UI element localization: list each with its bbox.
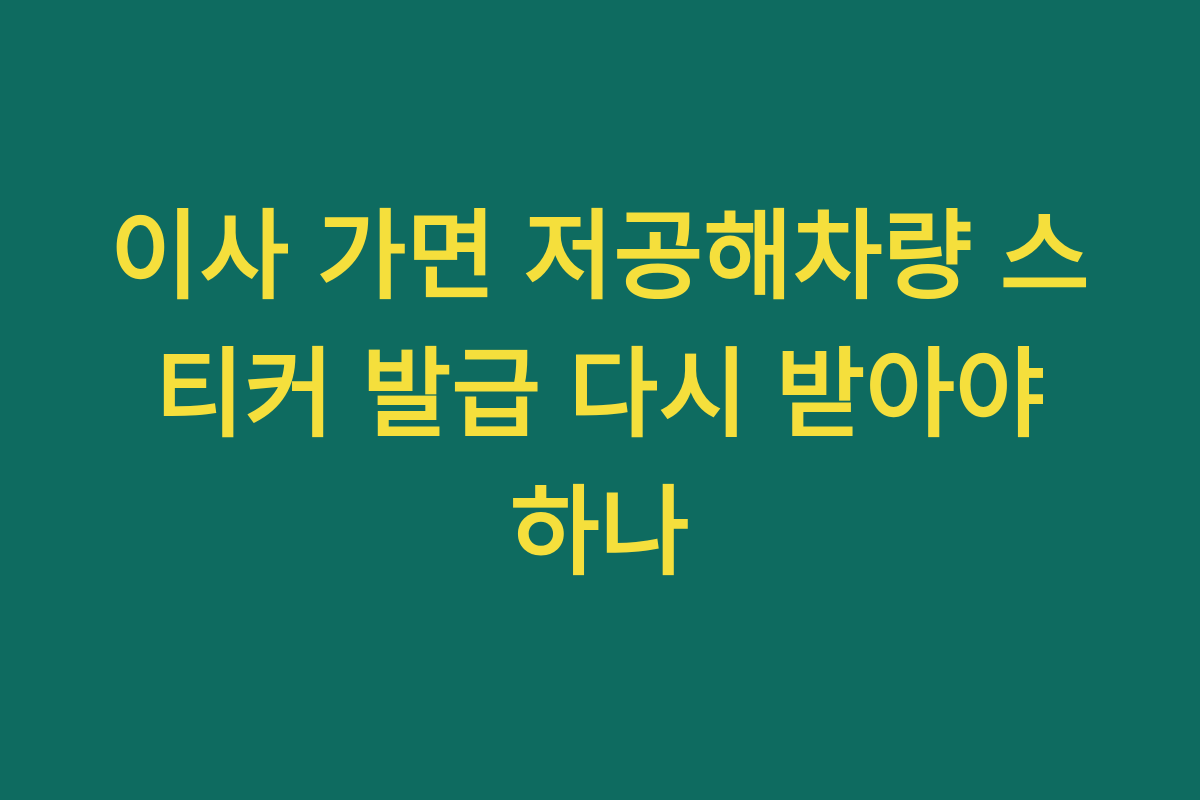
text-banner: 이사 가면 저공해차량 스 티커 발급 다시 받아야 하나 xyxy=(0,0,1200,800)
headline-line-3: 하나 xyxy=(70,464,1130,602)
headline-line-1: 이사 가면 저공해차량 스 xyxy=(70,188,1130,326)
headline-line-2: 티커 발급 다시 받아야 xyxy=(70,326,1130,464)
headline-block: 이사 가면 저공해차량 스 티커 발급 다시 받아야 하나 xyxy=(70,188,1130,602)
